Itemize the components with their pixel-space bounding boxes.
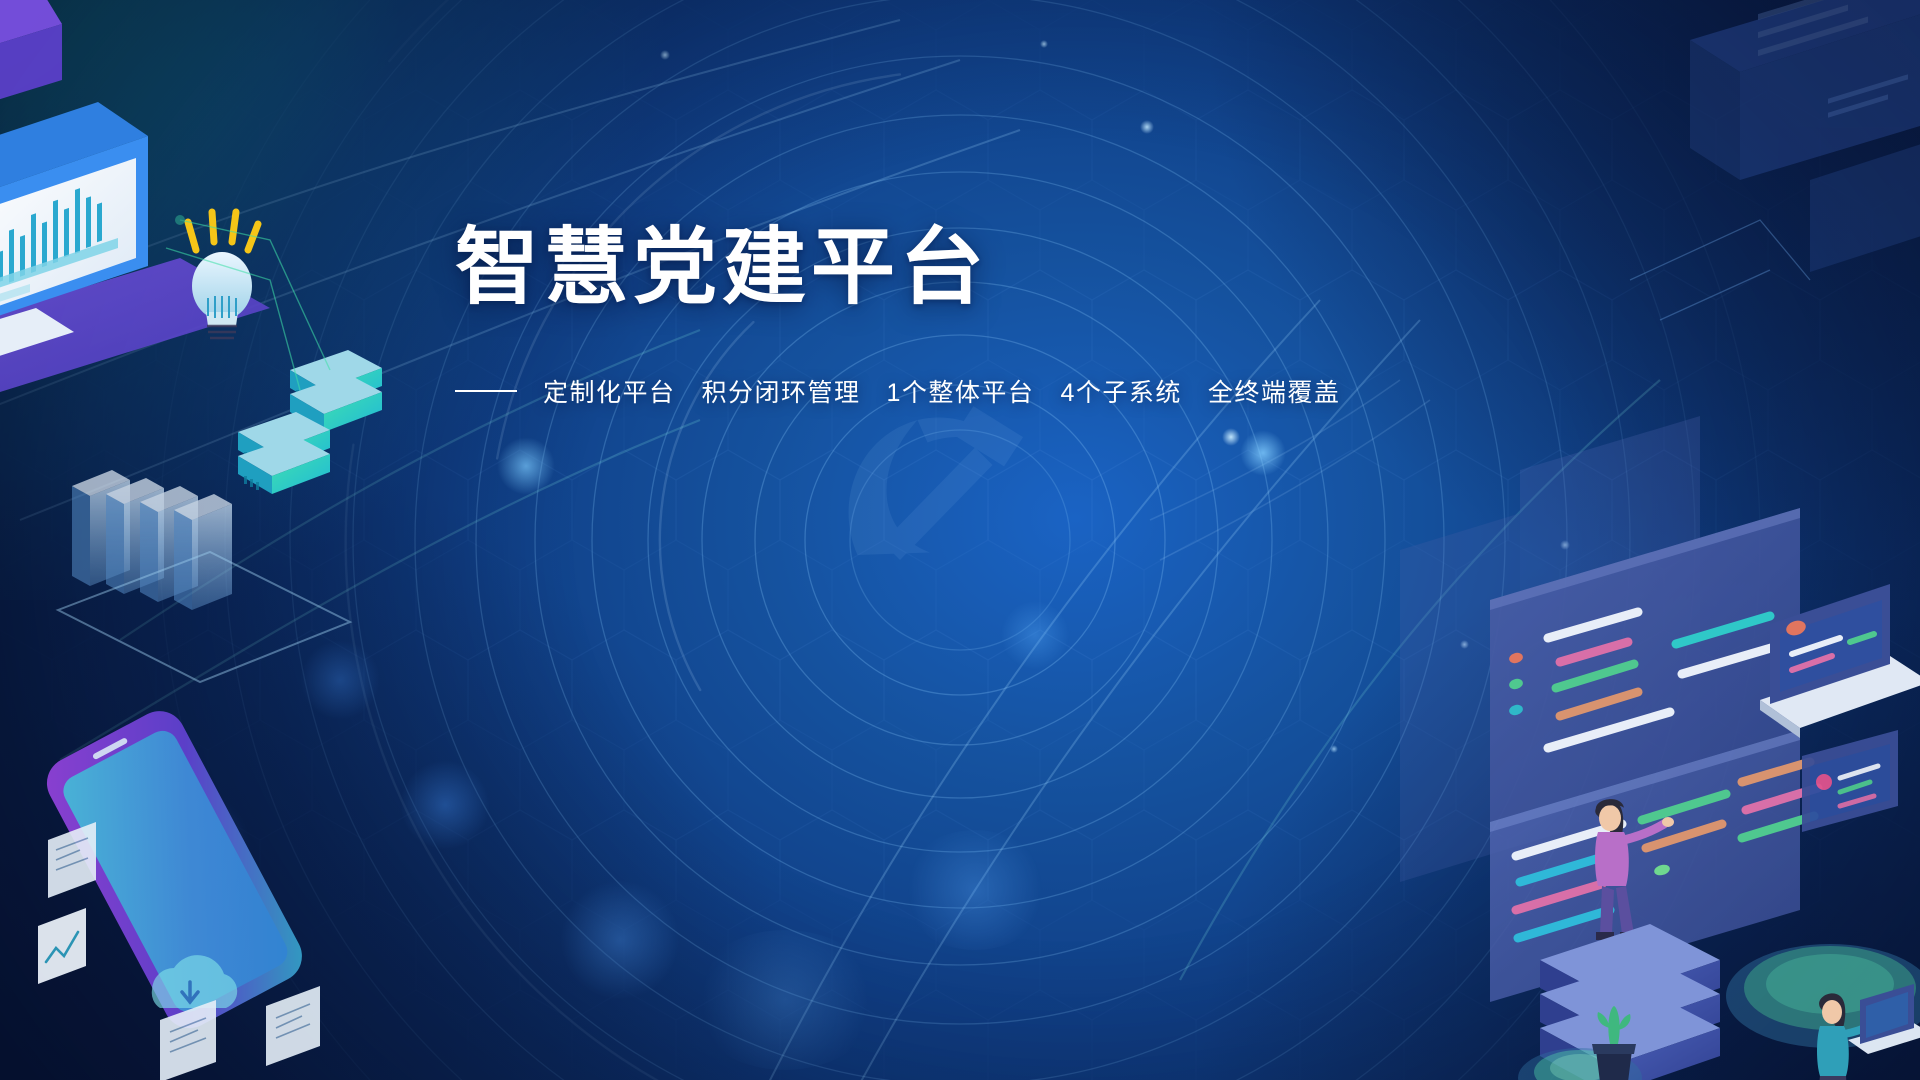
subtitle-dash	[455, 390, 517, 392]
subtitle-item: 定制化平台	[543, 373, 676, 409]
page-subtitle: 定制化平台 积分闭环管理 1个整体平台 4个子系统 全终端覆盖	[455, 373, 1340, 409]
subtitle-items: 定制化平台 积分闭环管理 1个整体平台 4个子系统 全终端覆盖	[543, 373, 1340, 409]
subtitle-item: 积分闭环管理	[702, 373, 861, 409]
subtitle-item: 4个子系统	[1060, 373, 1181, 409]
hero-text-block: 智慧党建平台 定制化平台 积分闭环管理 1个整体平台 4个子系统 全终端覆盖	[455, 225, 1340, 409]
page-title: 智慧党建平台	[455, 225, 1340, 309]
vignette-overlay	[0, 0, 1920, 1080]
hero-banner: 智慧党建平台 定制化平台 积分闭环管理 1个整体平台 4个子系统 全终端覆盖	[0, 0, 1920, 1080]
subtitle-item: 全终端覆盖	[1208, 373, 1341, 409]
subtitle-item: 1个整体平台	[887, 373, 1035, 409]
